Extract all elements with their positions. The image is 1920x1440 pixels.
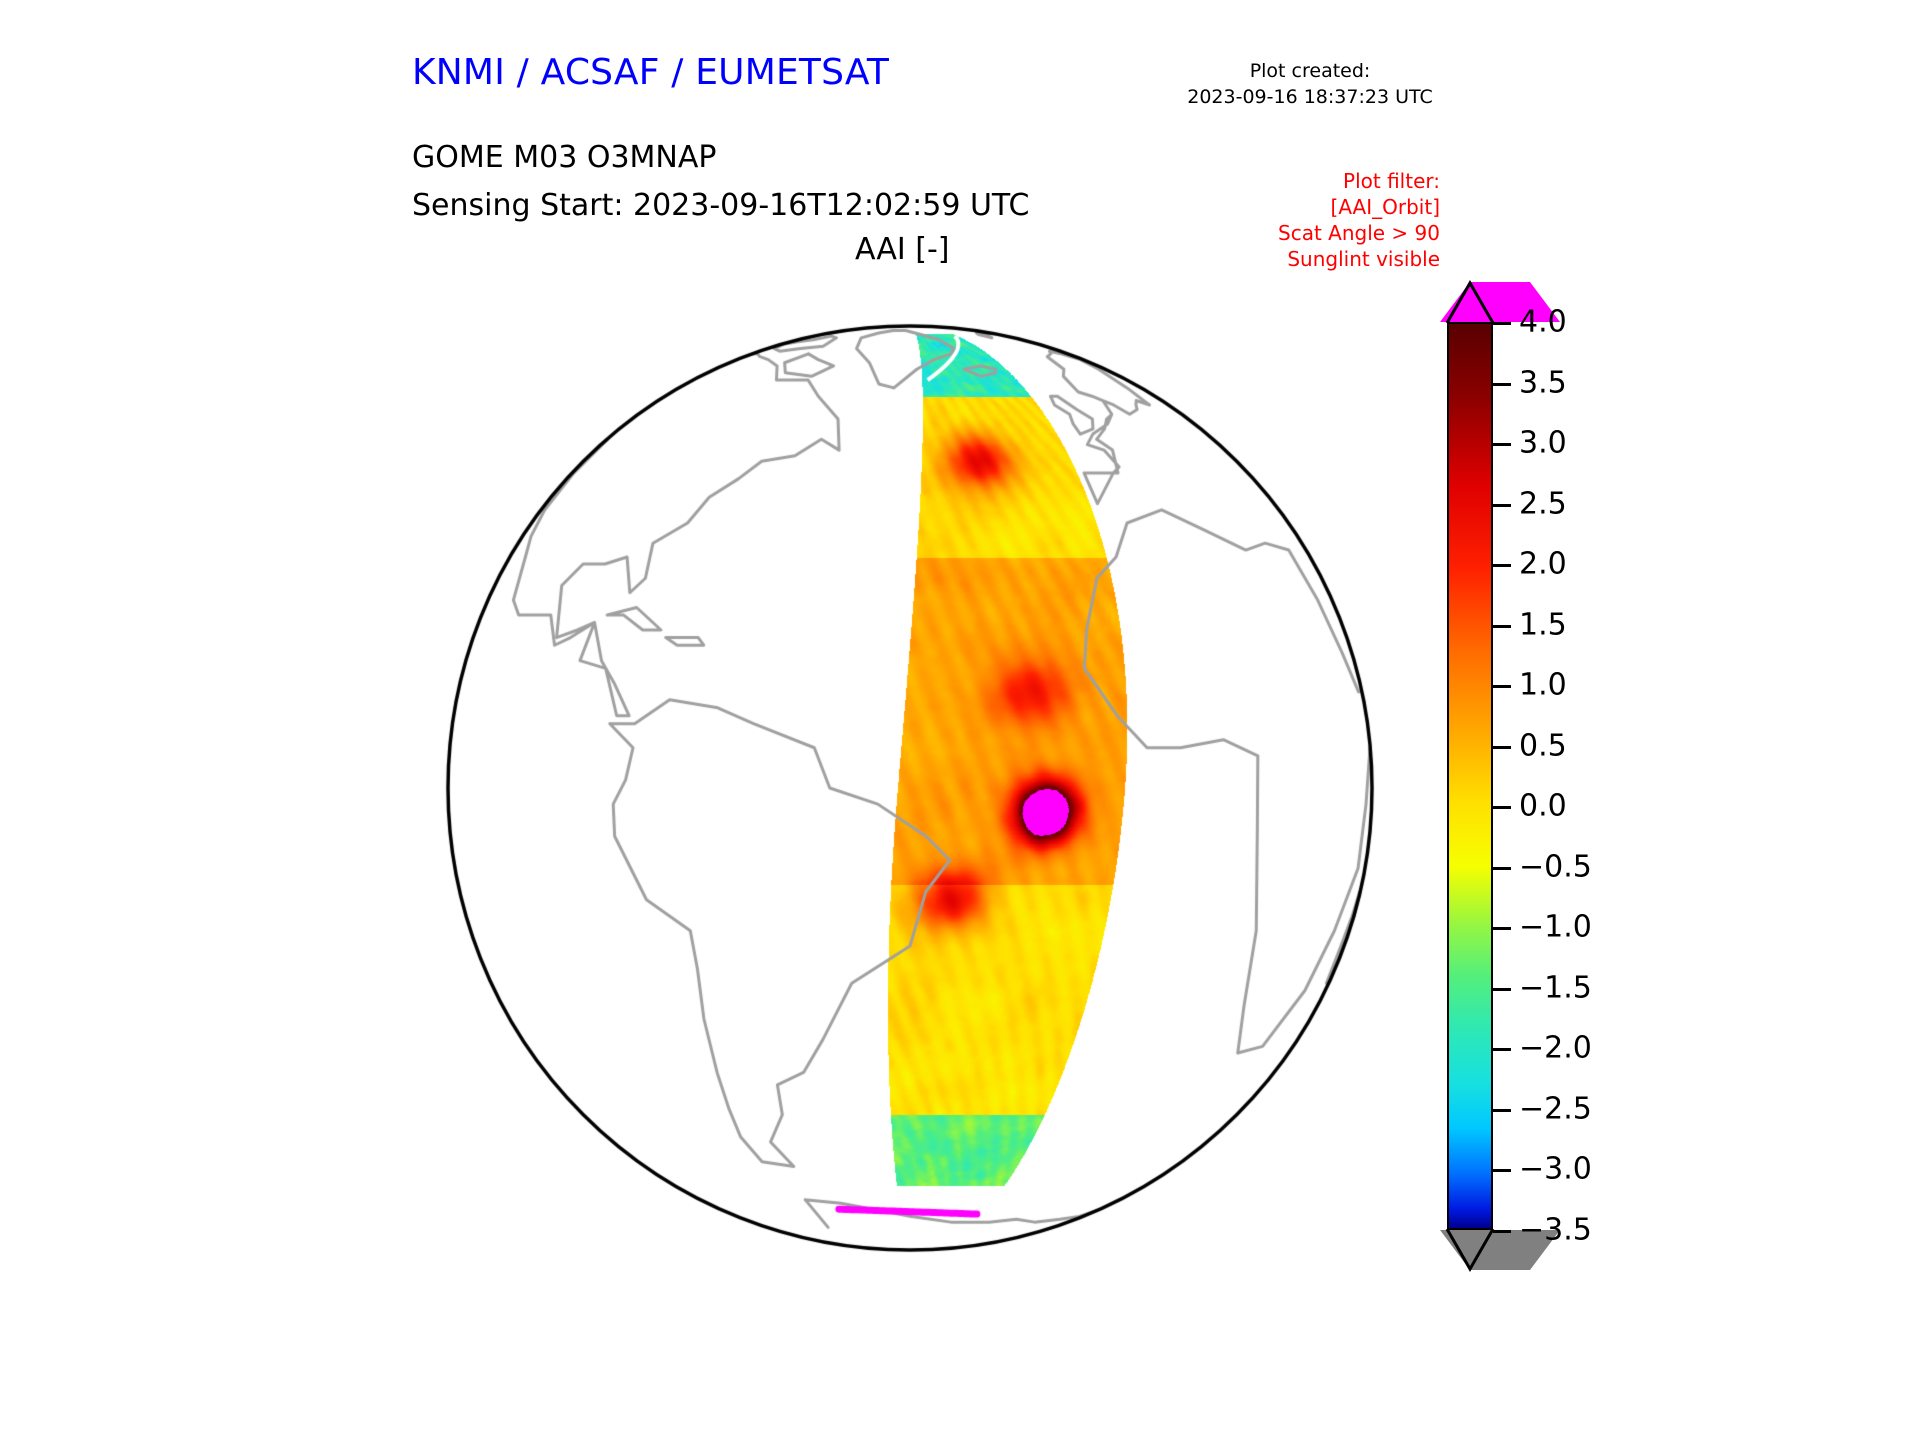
colorbar-tick <box>1493 685 1511 688</box>
colorbar-tick <box>1493 927 1511 930</box>
colorbar-tick-label: 1.5 <box>1519 607 1567 642</box>
colorbar-tick <box>1493 746 1511 749</box>
colorbar-tick <box>1493 504 1511 507</box>
colorbar-tick-label: 4.0 <box>1519 305 1567 340</box>
product-title: GOME M03 O3MNAP <box>412 140 716 175</box>
sensing-start-label: Sensing Start: 2023-09-16T12:02:59 UTC <box>412 188 1029 223</box>
colorbar-tick <box>1493 988 1511 991</box>
colorbar-tick-label: 0.5 <box>1519 728 1567 763</box>
globe-map <box>400 278 1420 1298</box>
colorbar-tick <box>1493 443 1511 446</box>
colorbar-tick-label: 0.0 <box>1519 789 1567 824</box>
colorbar-tick-label: −3.0 <box>1519 1152 1592 1187</box>
plot-filter-label: Plot filter: <box>1180 168 1440 194</box>
plot-filter-dataset: [AAI_Orbit] <box>1180 194 1440 220</box>
colorbar-tick <box>1493 383 1511 386</box>
colorbar-under-arrow-outline <box>1438 1228 1502 1272</box>
plot-filter-scat-angle: Scat Angle > 90 <box>1180 220 1440 246</box>
colorbar-tick-label: −1.0 <box>1519 910 1592 945</box>
colorbar-tick <box>1493 625 1511 628</box>
colorbar-tick-label: −0.5 <box>1519 849 1592 884</box>
colorbar-tick <box>1493 806 1511 809</box>
plot-filter-block: Plot filter: [AAI_Orbit] Scat Angle > 90… <box>1180 168 1440 272</box>
globe-canvas <box>400 278 1420 1298</box>
plot-created-timestamp: 2023-09-16 18:37:23 UTC <box>1160 84 1460 110</box>
colorbar-tick <box>1493 1230 1511 1233</box>
colorbar-tick-label: 1.0 <box>1519 668 1567 703</box>
colorbar-tick-label: −1.5 <box>1519 970 1592 1005</box>
colorbar-tick-label: 2.0 <box>1519 547 1567 582</box>
colorbar-tick-label: −3.5 <box>1519 1213 1592 1248</box>
plot-created-label: Plot created: <box>1160 58 1460 84</box>
colorbar-tick <box>1493 1169 1511 1172</box>
organisation-title: KNMI / ACSAF / EUMETSAT <box>412 52 889 93</box>
colorbar-tick-label: 3.5 <box>1519 365 1567 400</box>
colorbar-tick <box>1493 564 1511 567</box>
colorbar-tick-label: −2.0 <box>1519 1031 1592 1066</box>
colorbar-tick <box>1493 322 1511 325</box>
colorbar-ticks: 4.03.53.02.52.01.51.00.50.0−0.5−1.0−1.5−… <box>1447 322 1747 1230</box>
colorbar-tick <box>1493 867 1511 870</box>
colorbar-tick-label: 3.0 <box>1519 426 1567 461</box>
plot-filter-sunglint: Sunglint visible <box>1180 246 1440 272</box>
colorbar-tick-label: 2.5 <box>1519 486 1567 521</box>
colorbar-over-arrow-outline <box>1438 280 1502 324</box>
colorbar-tick-label: −2.5 <box>1519 1091 1592 1126</box>
plot-created-block: Plot created: 2023-09-16 18:37:23 UTC <box>1160 58 1460 110</box>
colorbar-tick <box>1493 1048 1511 1051</box>
colorbar-tick <box>1493 1109 1511 1112</box>
parameter-title: AAI [-] <box>855 232 950 267</box>
